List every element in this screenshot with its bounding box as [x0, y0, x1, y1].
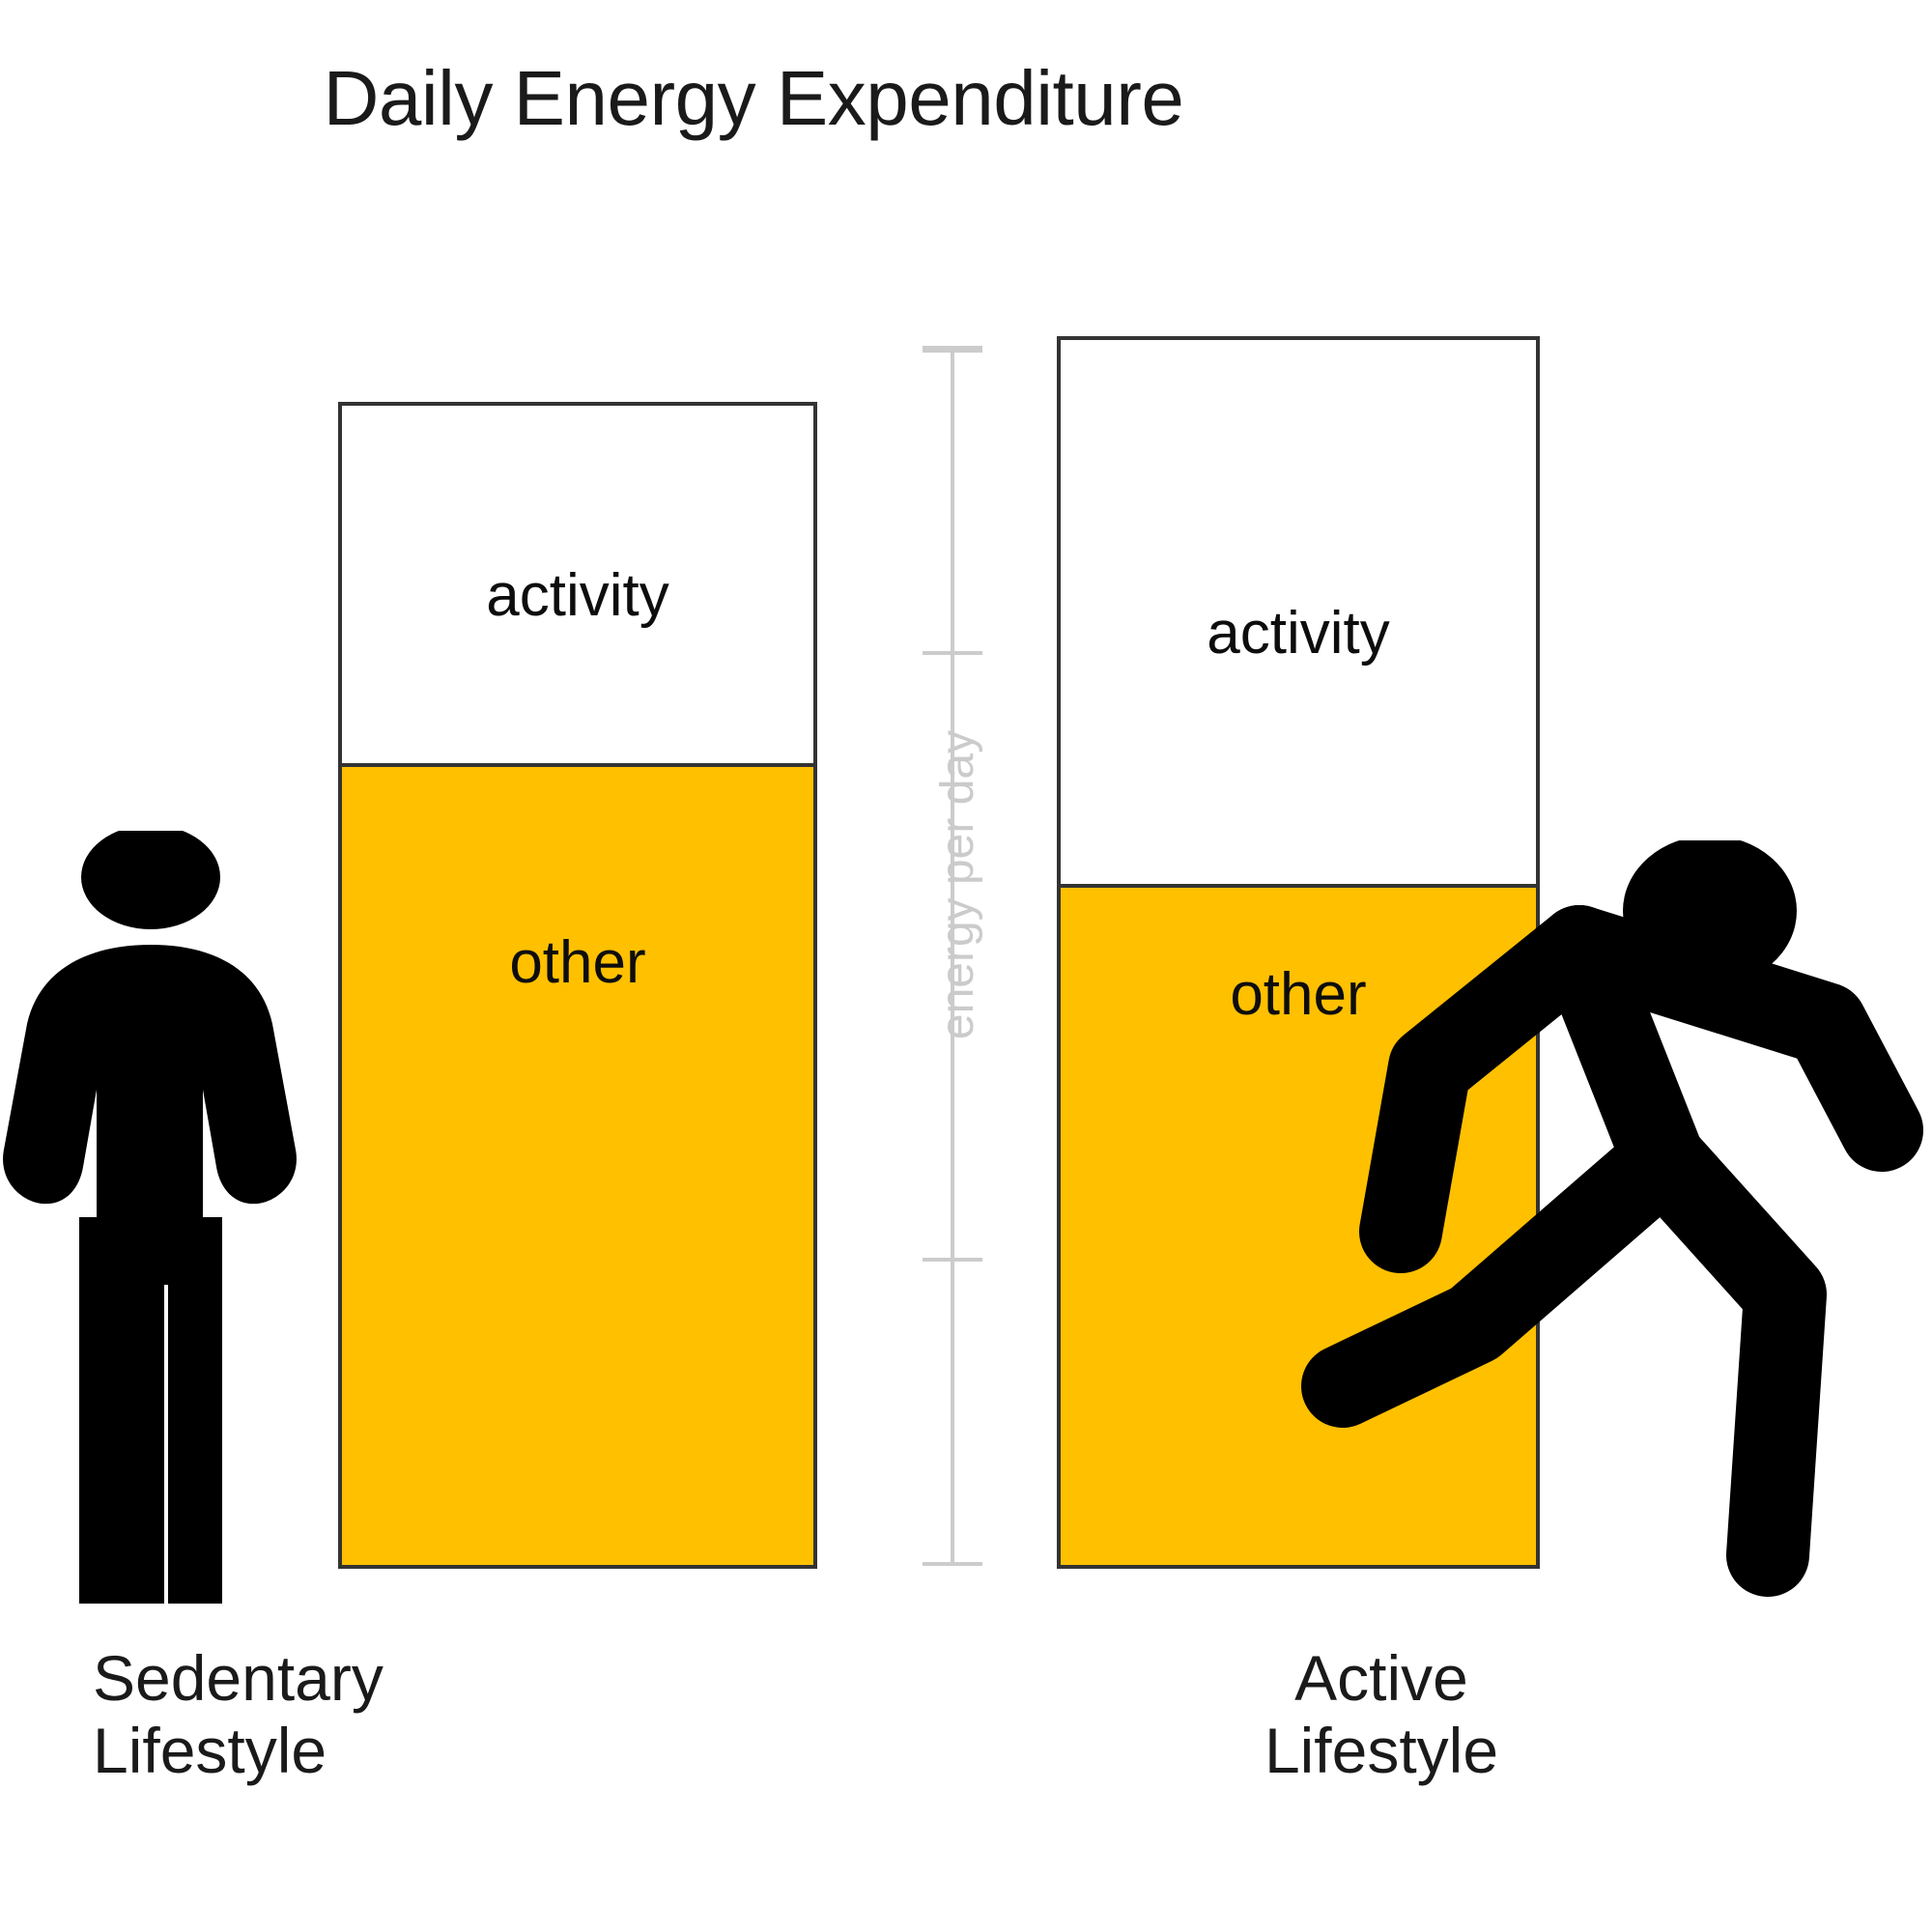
category-label-sedentary: Sedentary Lifestyle [93, 1642, 384, 1787]
bar-segment-activity-sedentary: activity [342, 406, 813, 763]
chart-canvas: Daily Energy Expenditure activity other … [0, 0, 1932, 1932]
bar-segment-other-sedentary: other [342, 763, 813, 1565]
y-axis-tick [923, 346, 982, 350]
running-person-icon [1285, 840, 1932, 1618]
y-axis-label: energy per day [935, 595, 981, 1175]
bar-sedentary-lifestyle: activity other [338, 402, 817, 1569]
page-title: Daily Energy Expenditure [0, 60, 1507, 137]
y-axis-tick [923, 1562, 982, 1566]
segment-label-other: other [509, 933, 645, 993]
segment-label-activity: activity [1207, 604, 1389, 664]
segment-label-activity: activity [486, 566, 668, 626]
standing-person-icon [0, 831, 307, 1608]
y-axis: energy per day [898, 346, 1007, 1571]
y-axis-tick [923, 1258, 982, 1262]
bar-segment-activity-active: activity [1061, 340, 1536, 884]
category-label-active: Active Lifestyle [1101, 1642, 1662, 1787]
